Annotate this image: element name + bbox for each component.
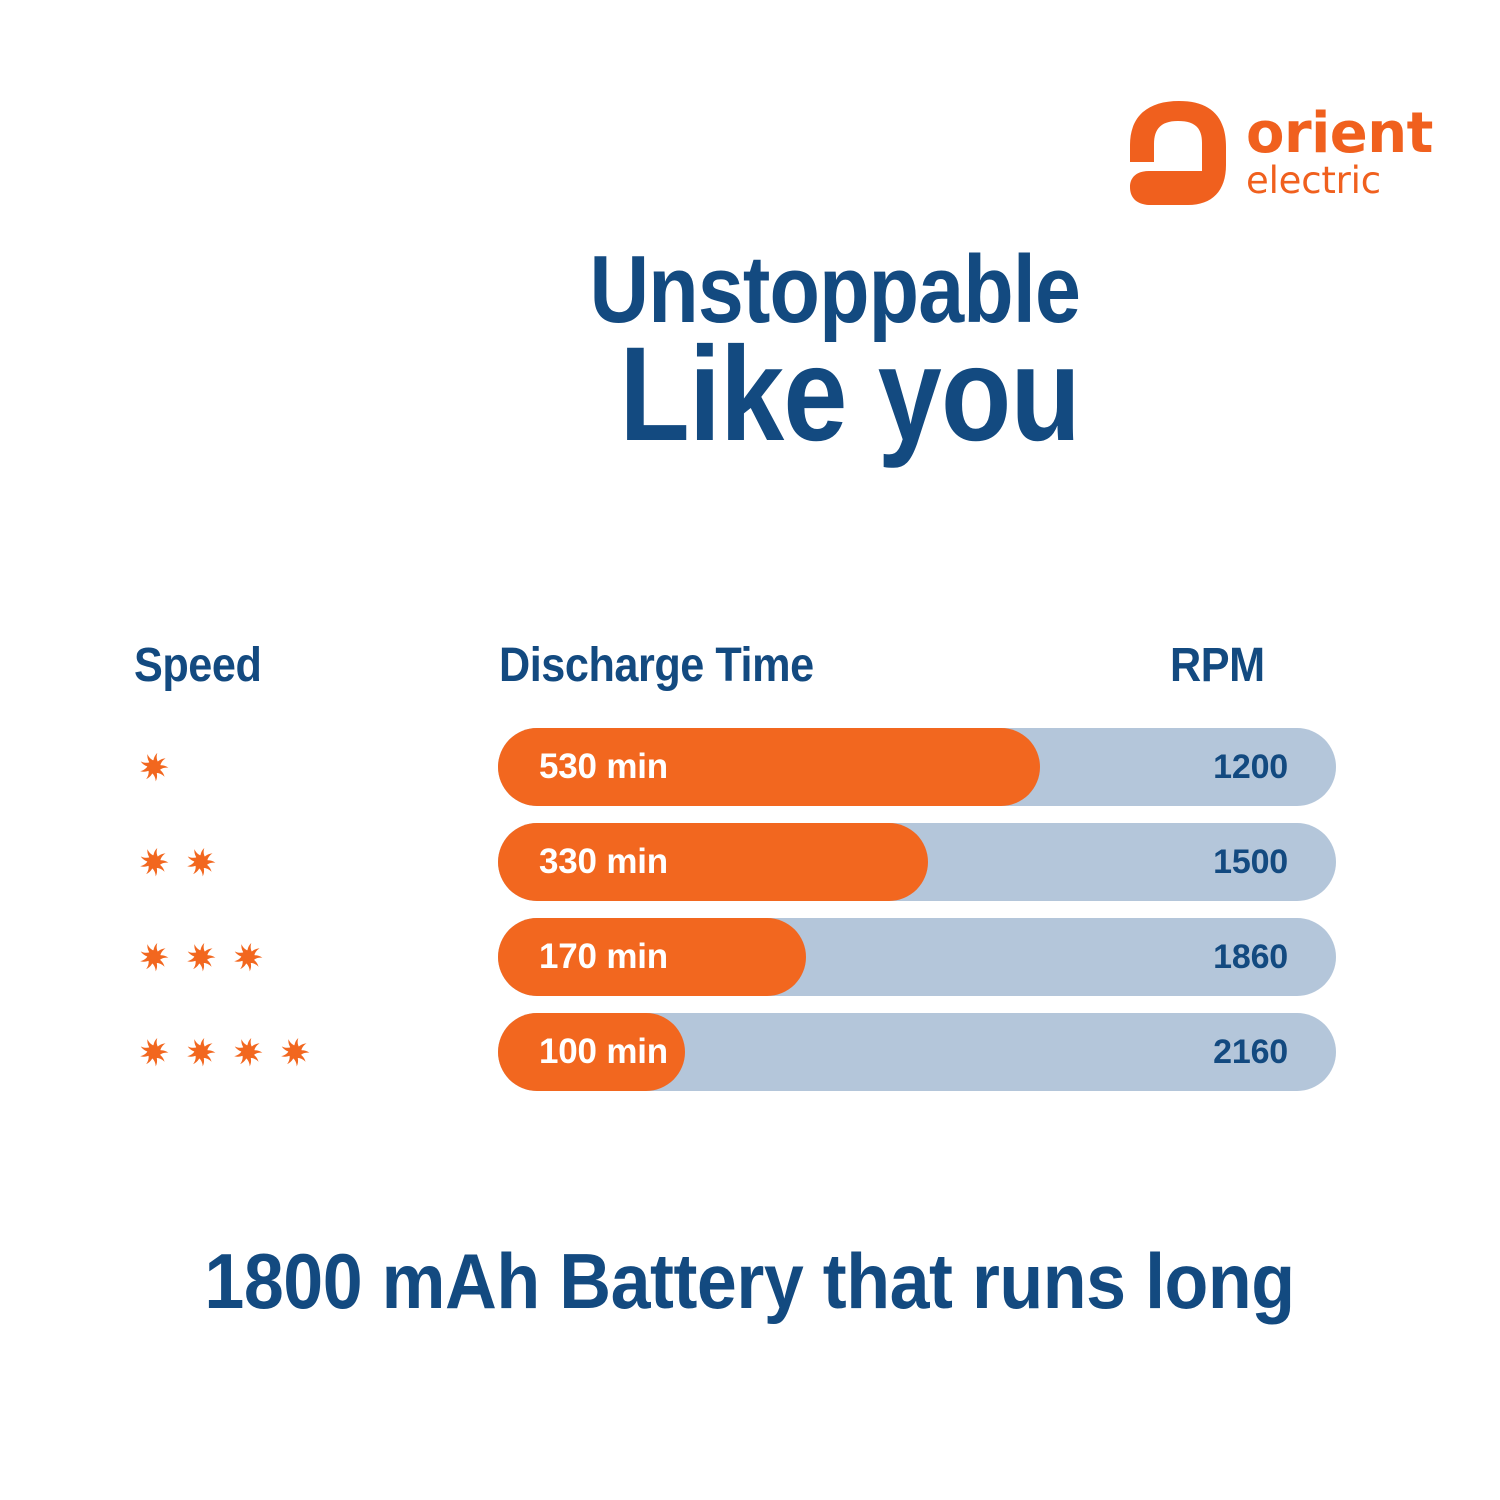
bar-fill: 530 min — [498, 728, 1040, 806]
rpm-value: 1860 — [1213, 918, 1288, 996]
fan-speed-icon — [228, 1032, 268, 1072]
brand-tagline: electric — [1246, 164, 1433, 198]
fan-speed-icon — [275, 1032, 315, 1072]
fan-speed-icon — [134, 937, 174, 977]
rpm-value: 1200 — [1213, 728, 1288, 806]
bar-fill: 330 min — [498, 823, 928, 901]
footer-tagline-text: 1800 mAh Battery that runs long — [205, 1236, 1295, 1327]
bar-fill: 170 min — [498, 918, 806, 996]
discharge-time-value: 100 min — [539, 1032, 668, 1072]
column-header-row: Speed Discharge Time RPM — [0, 638, 1500, 698]
column-header-discharge-time: Discharge Time — [499, 638, 814, 693]
discharge-time-value: 170 min — [539, 937, 668, 977]
fan-speed-icon — [228, 937, 268, 977]
fan-speed-icon — [181, 937, 221, 977]
orient-logomark-icon — [1128, 99, 1230, 207]
rpm-value: 1500 — [1213, 823, 1288, 901]
infographic-canvas: orient electric Unstoppable Like you Spe… — [0, 0, 1500, 1500]
speed-cell — [134, 823, 221, 901]
fan-speed-icon — [134, 842, 174, 882]
fan-speed-icon — [181, 1032, 221, 1072]
brand-name: orient — [1246, 108, 1433, 160]
fan-speed-icon — [181, 842, 221, 882]
chart-rows: 1200530 min1500330 min1860170 min2160100… — [0, 728, 1500, 1108]
discharge-time-value: 330 min — [539, 842, 668, 882]
chart-row: 2160100 min — [0, 1013, 1500, 1091]
speed-cell — [134, 1013, 315, 1091]
fan-speed-icon — [134, 747, 174, 787]
column-header-rpm: RPM — [1170, 638, 1265, 693]
speed-cell — [134, 728, 174, 806]
discharge-bar: 1860170 min — [498, 918, 1336, 996]
chart-row: 1200530 min — [0, 728, 1500, 806]
chart-row: 1500330 min — [0, 823, 1500, 901]
chart-row: 1860170 min — [0, 918, 1500, 996]
page-headline: Unstoppable Like you — [0, 243, 1080, 460]
discharge-bar: 1500330 min — [498, 823, 1336, 901]
discharge-bar: 1200530 min — [498, 728, 1336, 806]
speed-cell — [134, 918, 268, 996]
headline-line-2: Like you — [151, 330, 1080, 460]
column-header-speed: Speed — [134, 638, 261, 693]
brand-wordmark: orient electric — [1246, 108, 1433, 198]
bar-fill: 100 min — [498, 1013, 685, 1091]
discharge-time-value: 530 min — [539, 747, 668, 787]
footer-tagline: 1800 mAh Battery that runs long — [0, 1236, 1500, 1327]
fan-speed-icon — [134, 1032, 174, 1072]
discharge-bar: 2160100 min — [498, 1013, 1336, 1091]
brand-logo: orient electric — [1128, 98, 1408, 208]
rpm-value: 2160 — [1213, 1013, 1288, 1091]
